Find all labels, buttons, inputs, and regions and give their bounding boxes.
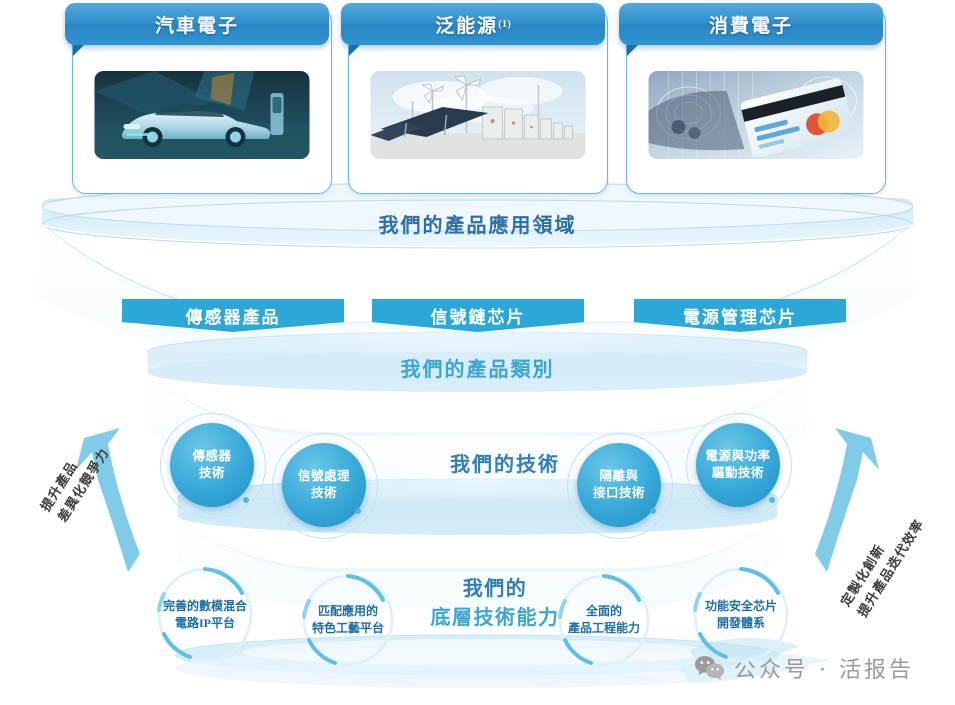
card-consumer-image bbox=[649, 71, 864, 159]
tech-isolation-line1: 隔離與 bbox=[599, 469, 638, 483]
card-energy-header: 泛能源(1) bbox=[341, 3, 605, 45]
card-automotive-header: 汽車電子 bbox=[65, 3, 329, 45]
card-consumer-title: 消費電子 bbox=[709, 11, 793, 38]
card-energy[interactable]: 泛能源(1) bbox=[348, 8, 608, 194]
card-automotive[interactable]: 汽車電子 bbox=[72, 8, 332, 194]
base-process-line1: 匹配應用的 bbox=[318, 604, 378, 618]
tech-power-line2: 驅動技術 bbox=[712, 466, 764, 480]
tech-isolation-line2: 接口技術 bbox=[593, 486, 645, 500]
base-circle-mixed-signal-ip[interactable]: 完善的數模混合電路IP平台 bbox=[159, 569, 251, 661]
card-consumer[interactable]: 消費電子 bbox=[626, 8, 886, 194]
base-safety-line1: 功能安全芯片 bbox=[705, 599, 777, 613]
application-cards: 汽車電子 bbox=[0, 0, 955, 200]
tech-dot-power bbox=[769, 497, 775, 503]
card-automotive-notch bbox=[73, 45, 84, 56]
base-safety-line2: 開發體系 bbox=[717, 616, 765, 630]
card-energy-title: 泛能源 bbox=[435, 11, 498, 38]
tech-dot-signal bbox=[355, 508, 361, 514]
tech-sensor-line2: 技術 bbox=[199, 466, 225, 480]
card-consumer-header: 消費電子 bbox=[619, 3, 883, 45]
base-circle-product-engineering[interactable]: 全面的產品工程能力 bbox=[558, 574, 650, 666]
tech-circle-power-drive[interactable]: 電源與功率驅動技術 bbox=[696, 423, 780, 507]
tech-power-line1: 電源與功率 bbox=[705, 449, 770, 463]
card-energy-notch bbox=[349, 45, 360, 56]
tech-heading: 我們的技術 bbox=[430, 448, 580, 477]
tech-circle-signal-processing[interactable]: 信號處理技術 bbox=[282, 443, 366, 527]
base-ip-line1: 完善的數模混合 bbox=[163, 599, 247, 613]
base-ip-line2: 電路IP平台 bbox=[175, 616, 235, 630]
tech-dot-isolation bbox=[650, 508, 656, 514]
card-automotive-image bbox=[95, 71, 310, 159]
band-label-domain: 我們的產品應用領域 bbox=[0, 209, 955, 238]
card-automotive-title: 汽車電子 bbox=[155, 11, 239, 38]
card-consumer-notch bbox=[627, 45, 638, 56]
card-energy-superscript: (1) bbox=[498, 18, 511, 30]
band-label-category: 我們的產品類別 bbox=[0, 353, 955, 382]
tech-signal-line1: 信號處理 bbox=[298, 469, 350, 483]
tech-sensor-line1: 傳感器 bbox=[192, 449, 231, 463]
tech-signal-line2: 技術 bbox=[311, 486, 337, 500]
slide-canvas: 汽車電子 bbox=[0, 0, 955, 705]
base-eng-line1: 全面的 bbox=[586, 604, 622, 618]
tech-circle-isolation-interface[interactable]: 隔離與接口技術 bbox=[577, 443, 661, 527]
base-eng-line2: 產品工程能力 bbox=[568, 621, 640, 635]
tech-circle-sensor[interactable]: 傳感器技術 bbox=[170, 423, 254, 507]
card-energy-image bbox=[371, 71, 586, 159]
base-circle-functional-safety[interactable]: 功能安全芯片開發體系 bbox=[695, 569, 787, 661]
base-circle-process-platform[interactable]: 匹配應用的特色工藝平台 bbox=[302, 574, 394, 666]
tech-dot-sensor bbox=[243, 497, 249, 503]
base-process-line2: 特色工藝平台 bbox=[312, 621, 384, 635]
